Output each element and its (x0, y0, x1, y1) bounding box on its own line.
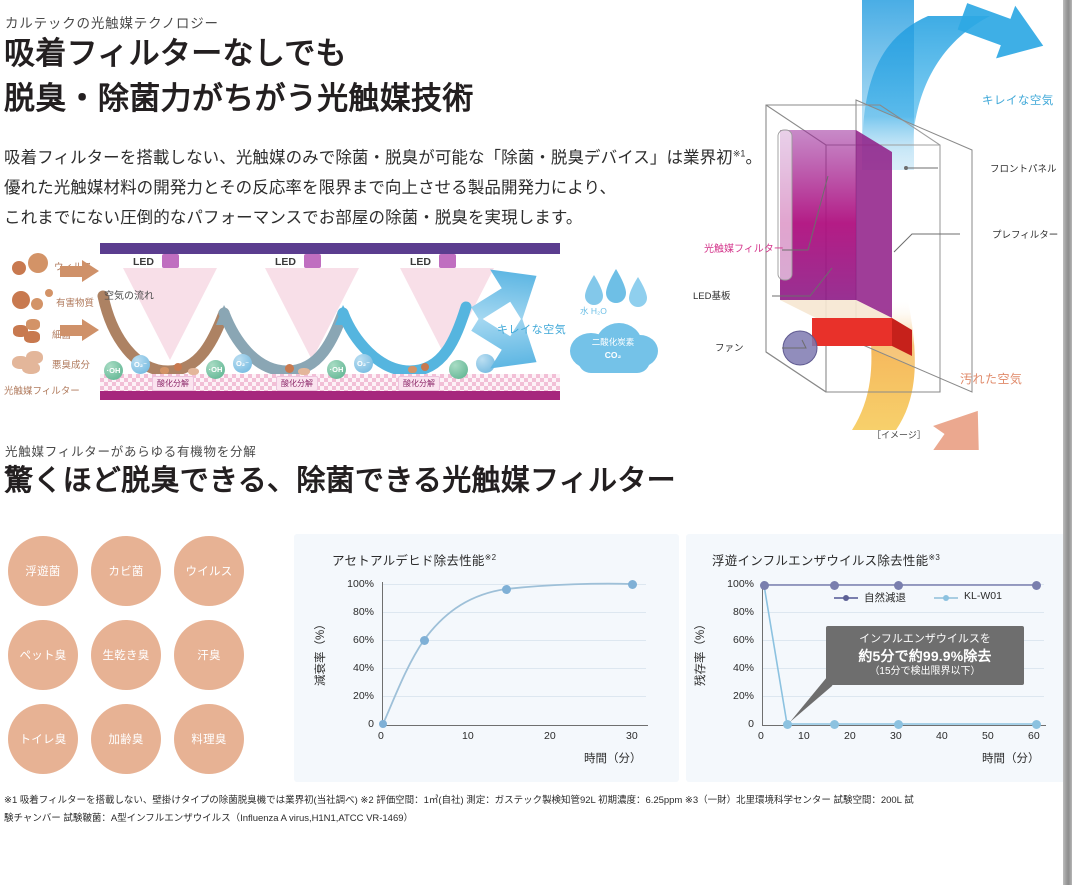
chart1-series-line (294, 534, 679, 782)
radical-o2-1: O₂⁻ (131, 355, 150, 374)
oxidation-label-3: 酸化分解 (398, 376, 440, 391)
footnote-line-1: ※1 吸着フィルターを搭載しない、壁掛けタイプの除菌脱臭機では業界初(当社調べ)… (4, 793, 1064, 810)
radical-oh-4 (449, 360, 468, 379)
circle-item-5: 生乾き臭 (91, 620, 161, 690)
oxidation-label-2: 酸化分解 (276, 376, 318, 391)
circle-item-9: 料理臭 (174, 704, 244, 774)
section2-eyebrow: 光触媒フィルターがあらゆる有機物を分解 (5, 441, 257, 460)
circle-item-4: ペット臭 (8, 620, 78, 690)
radical-o2-3: O₂⁻ (354, 354, 373, 373)
radical-o2-2: O₂⁻ (233, 354, 252, 373)
chart2-annotation: インフルエンザウイルスを 約5分で約99.9%除去 （15分で検出限界以下） (826, 626, 1024, 685)
circle-item-6: 汗臭 (174, 620, 244, 690)
chart1-point-3 (628, 580, 637, 589)
photocatalyst-mechanism-diagram: ウィルス 有害物質 細菌 悪臭成分 光触媒フィルター (0, 243, 660, 408)
annotation-line-3: （15分で検出限界以下） (836, 665, 1014, 678)
chart2-y-axis-label: 残存率（%） (692, 618, 708, 686)
circle-item-3: ウイルス (174, 536, 244, 606)
radical-oh-1: ·OH (104, 361, 123, 380)
label-fan: ファン (715, 340, 744, 354)
chart1-y-axis-label: 減衰率（%） (312, 618, 328, 686)
section1-headline-line2: 脱臭・除菌力がちがう光触媒技術 (4, 83, 474, 116)
infographic-page: カルテックの光触媒テクノロジー 吸着フィルターなしでも 脱臭・除菌力がちがう光触… (0, 0, 1080, 885)
section1-headline-line1: 吸着フィルターなしでも (4, 38, 347, 71)
circle-item-8: 加齢臭 (91, 704, 161, 774)
oxidation-label-1: 酸化分解 (152, 376, 194, 391)
circle-item-7: トイレ臭 (8, 704, 78, 774)
page-right-gutter (1072, 0, 1080, 885)
circle-item-2: カビ菌 (91, 536, 161, 606)
target-substances-grid: 浮遊菌 カビ菌 ウイルス ペット臭 生乾き臭 汗臭 トイレ臭 加齢臭 料理臭 (8, 536, 270, 782)
radical-oh-2: ·OH (206, 360, 225, 379)
dirty-air-label: 汚れた空気 (960, 370, 1022, 387)
section1-lede-line1: 吸着フィルターを搭載しない、光触媒のみで除菌・脱臭が可能な「除菌・脱臭デバイス」… (4, 143, 762, 174)
annotation-line-1: インフルエンザウイルスを (836, 632, 1014, 647)
label-led-board: LED基板 (693, 288, 730, 302)
footnote-line-2: 験チャンバー 試験鞁菌：A型インフルエンザウイルス（Influenza A vi… (4, 811, 1064, 828)
chart-influenza: 浮遊インフルエンザウイルス除去性能※3 100% 80% 60% 40% 20%… (686, 534, 1066, 782)
annotation-line-2: 約5分で約99.9%除去 (836, 647, 1014, 665)
lede-text-a: 吸着フィルターを搭載しない、光触媒のみで除菌・脱臭が可能な「除菌・脱臭デバイス」… (4, 149, 733, 167)
label-pre-filter: プレフィルター (992, 227, 1058, 241)
label-front-panel: フロントパネル (990, 161, 1057, 175)
clean-air-label-product: キレイな空気 (982, 92, 1054, 108)
section1-lede-line2: 優れた光触媒材料の開発力とその反応率を限界まで向上させる製品開発力により、 (4, 173, 616, 204)
vertical-scrollbar[interactable] (1063, 0, 1072, 885)
co2-label-line1: 二酸化炭素 (568, 337, 658, 348)
product-image-caption: ［イメージ］ (872, 428, 926, 441)
chart1-point-2 (502, 585, 511, 594)
radical-oh-3: ·OH (327, 360, 346, 379)
section2-headline: 驚くほど脱臭できる、除菌できる光触媒フィルター (4, 466, 676, 496)
product-cutaway-diagram: キレイな空気 フロントパネル プレフィルター 光触媒フィルター LED基板 ファ… (660, 0, 1060, 450)
chart2-x-axis-label: 時間（分） (982, 750, 1040, 766)
chart-acetaldehyde: アセトアルデヒド除去性能※2 100% 80% 60% 40% 20% 0 0 … (294, 534, 679, 782)
label-photocatalyst-filter: 光触媒フィルター (704, 240, 784, 255)
circle-item-1: 浮遊菌 (8, 536, 78, 606)
airflow-label: 空気の流れ (104, 287, 154, 302)
chart1-point-0 (379, 720, 387, 728)
co2-label-line2: CO₂ (568, 350, 658, 361)
water-label: 水 H₂O (580, 305, 607, 317)
clean-air-label-mechanism: キレイな空気 (497, 321, 566, 337)
chart1-point-1 (420, 636, 429, 645)
section1-eyebrow: カルテックの光触媒テクノロジー (5, 12, 219, 32)
section1-lede-line3: これまでにない圧倒的なパフォーマンスでお部屋の除菌・脱臭を実現します。 (4, 203, 582, 234)
chart1-x-axis-label: 時間（分） (584, 750, 642, 766)
